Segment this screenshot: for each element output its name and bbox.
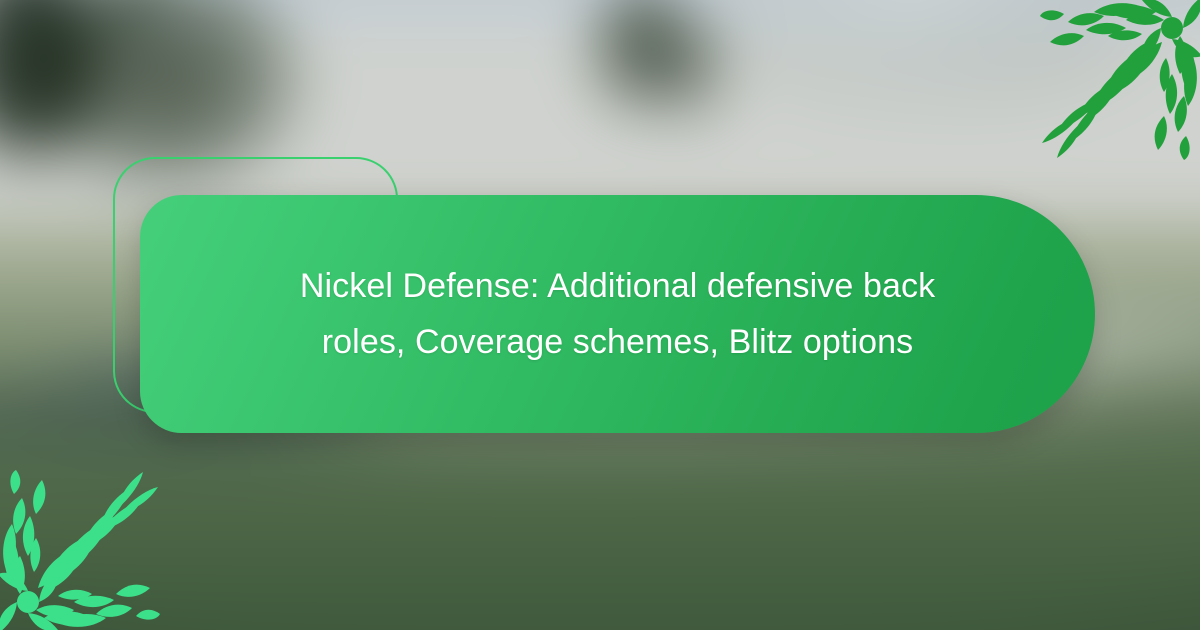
title-card: Nickel Defense: Additional defensive bac… — [140, 195, 1095, 433]
page-title: Nickel Defense: Additional defensive bac… — [258, 258, 978, 370]
floral-damask-corner-ornament-bottom-left — [0, 470, 160, 630]
floral-damask-corner-ornament-top-right — [1040, 0, 1200, 160]
poster-stage: Nickel Defense: Additional defensive bac… — [0, 0, 1200, 630]
